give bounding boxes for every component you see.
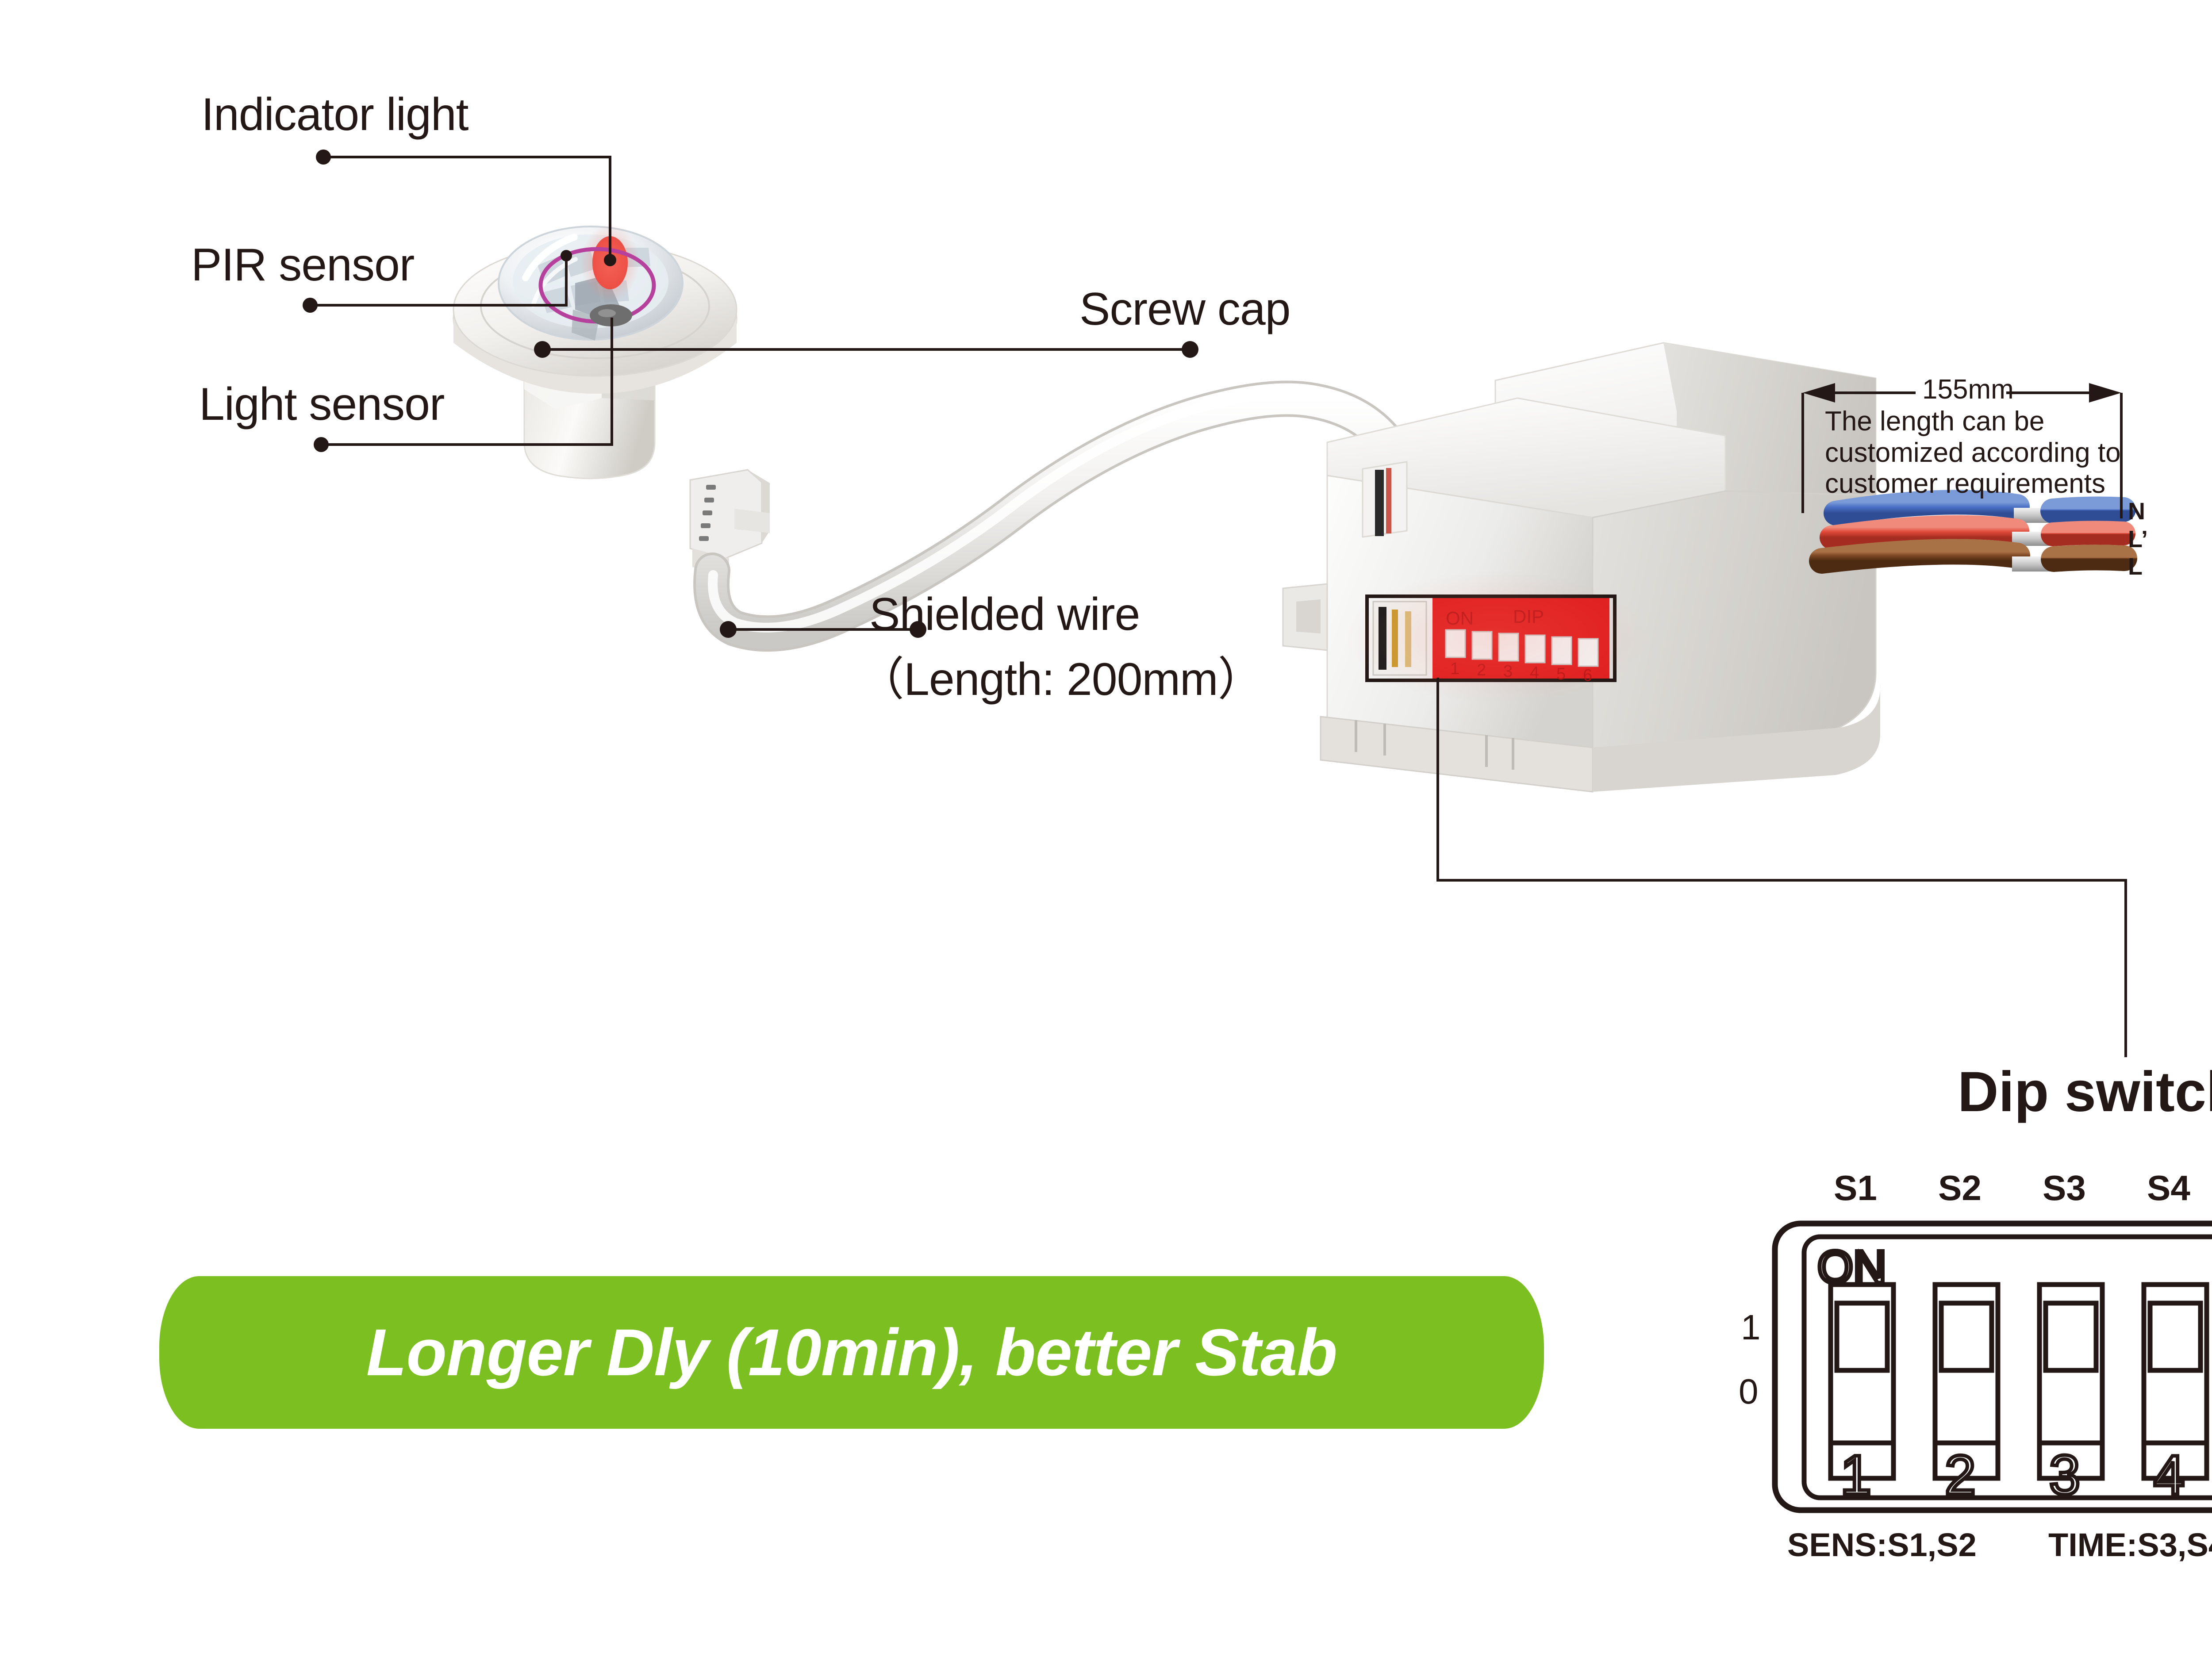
wire-tag-load: L’ xyxy=(2128,525,2148,553)
sensor-head-render xyxy=(453,224,737,479)
callout-label-shielded-wire: Shielded wire xyxy=(869,588,1140,641)
wire-tag-live: L xyxy=(2128,553,2143,580)
dip-top-label-s3: S3 xyxy=(2043,1168,2086,1208)
diagram-canvas: ON DIP 123 456 xyxy=(0,0,2212,1657)
dip-top-label-s4: S4 xyxy=(2147,1168,2190,1208)
dimension-note-line-2: customized according to xyxy=(1825,437,2121,469)
dip-footer-sens: SENS:S1,S2 xyxy=(1787,1526,1977,1564)
callout-label-pir-sensor: PIR sensor xyxy=(191,239,414,292)
dip-switch-diagram: ON xyxy=(1775,1224,2212,1510)
dip-top-label-s1: S1 xyxy=(1834,1168,1877,1208)
callout-label-screw-cap: Screw cap xyxy=(1079,283,1290,336)
dimension-note-line-3: customer requirements xyxy=(1825,468,2121,500)
callout-label-indicator-light: Indicator light xyxy=(201,88,469,141)
wire-tag-neutral: N xyxy=(2128,498,2145,525)
dimension-note: The length can be customized according t… xyxy=(1825,406,2121,500)
svg-text:2: 2 xyxy=(1945,1444,1976,1506)
dip-switch-title: Dip switch xyxy=(1958,1059,2212,1124)
promo-banner: Longer Dly (10min), better Stab xyxy=(159,1276,1544,1429)
callout-label-shielded-wire-length: （Length: 200mm） xyxy=(858,641,1263,708)
dip-side-label-zero: 0 xyxy=(1739,1371,1759,1412)
callout-label-light-sensor: Light sensor xyxy=(199,378,445,431)
svg-text:4: 4 xyxy=(2154,1444,2185,1506)
dimension-note-line-1: The length can be xyxy=(1825,406,2121,437)
dip-side-label-one: 1 xyxy=(1741,1307,1761,1348)
dimension-value-155mm: 155mm xyxy=(1922,374,2014,405)
svg-text:1: 1 xyxy=(1840,1444,1871,1506)
dip-footer-time: TIME:S3,S4 xyxy=(2048,1526,2212,1564)
promo-banner-text: Longer Dly (10min), better Stab xyxy=(159,1276,1544,1429)
svg-text:3: 3 xyxy=(2049,1444,2080,1506)
dip-top-label-s2: S2 xyxy=(1938,1168,1982,1208)
output-wires-render xyxy=(1822,502,2124,572)
